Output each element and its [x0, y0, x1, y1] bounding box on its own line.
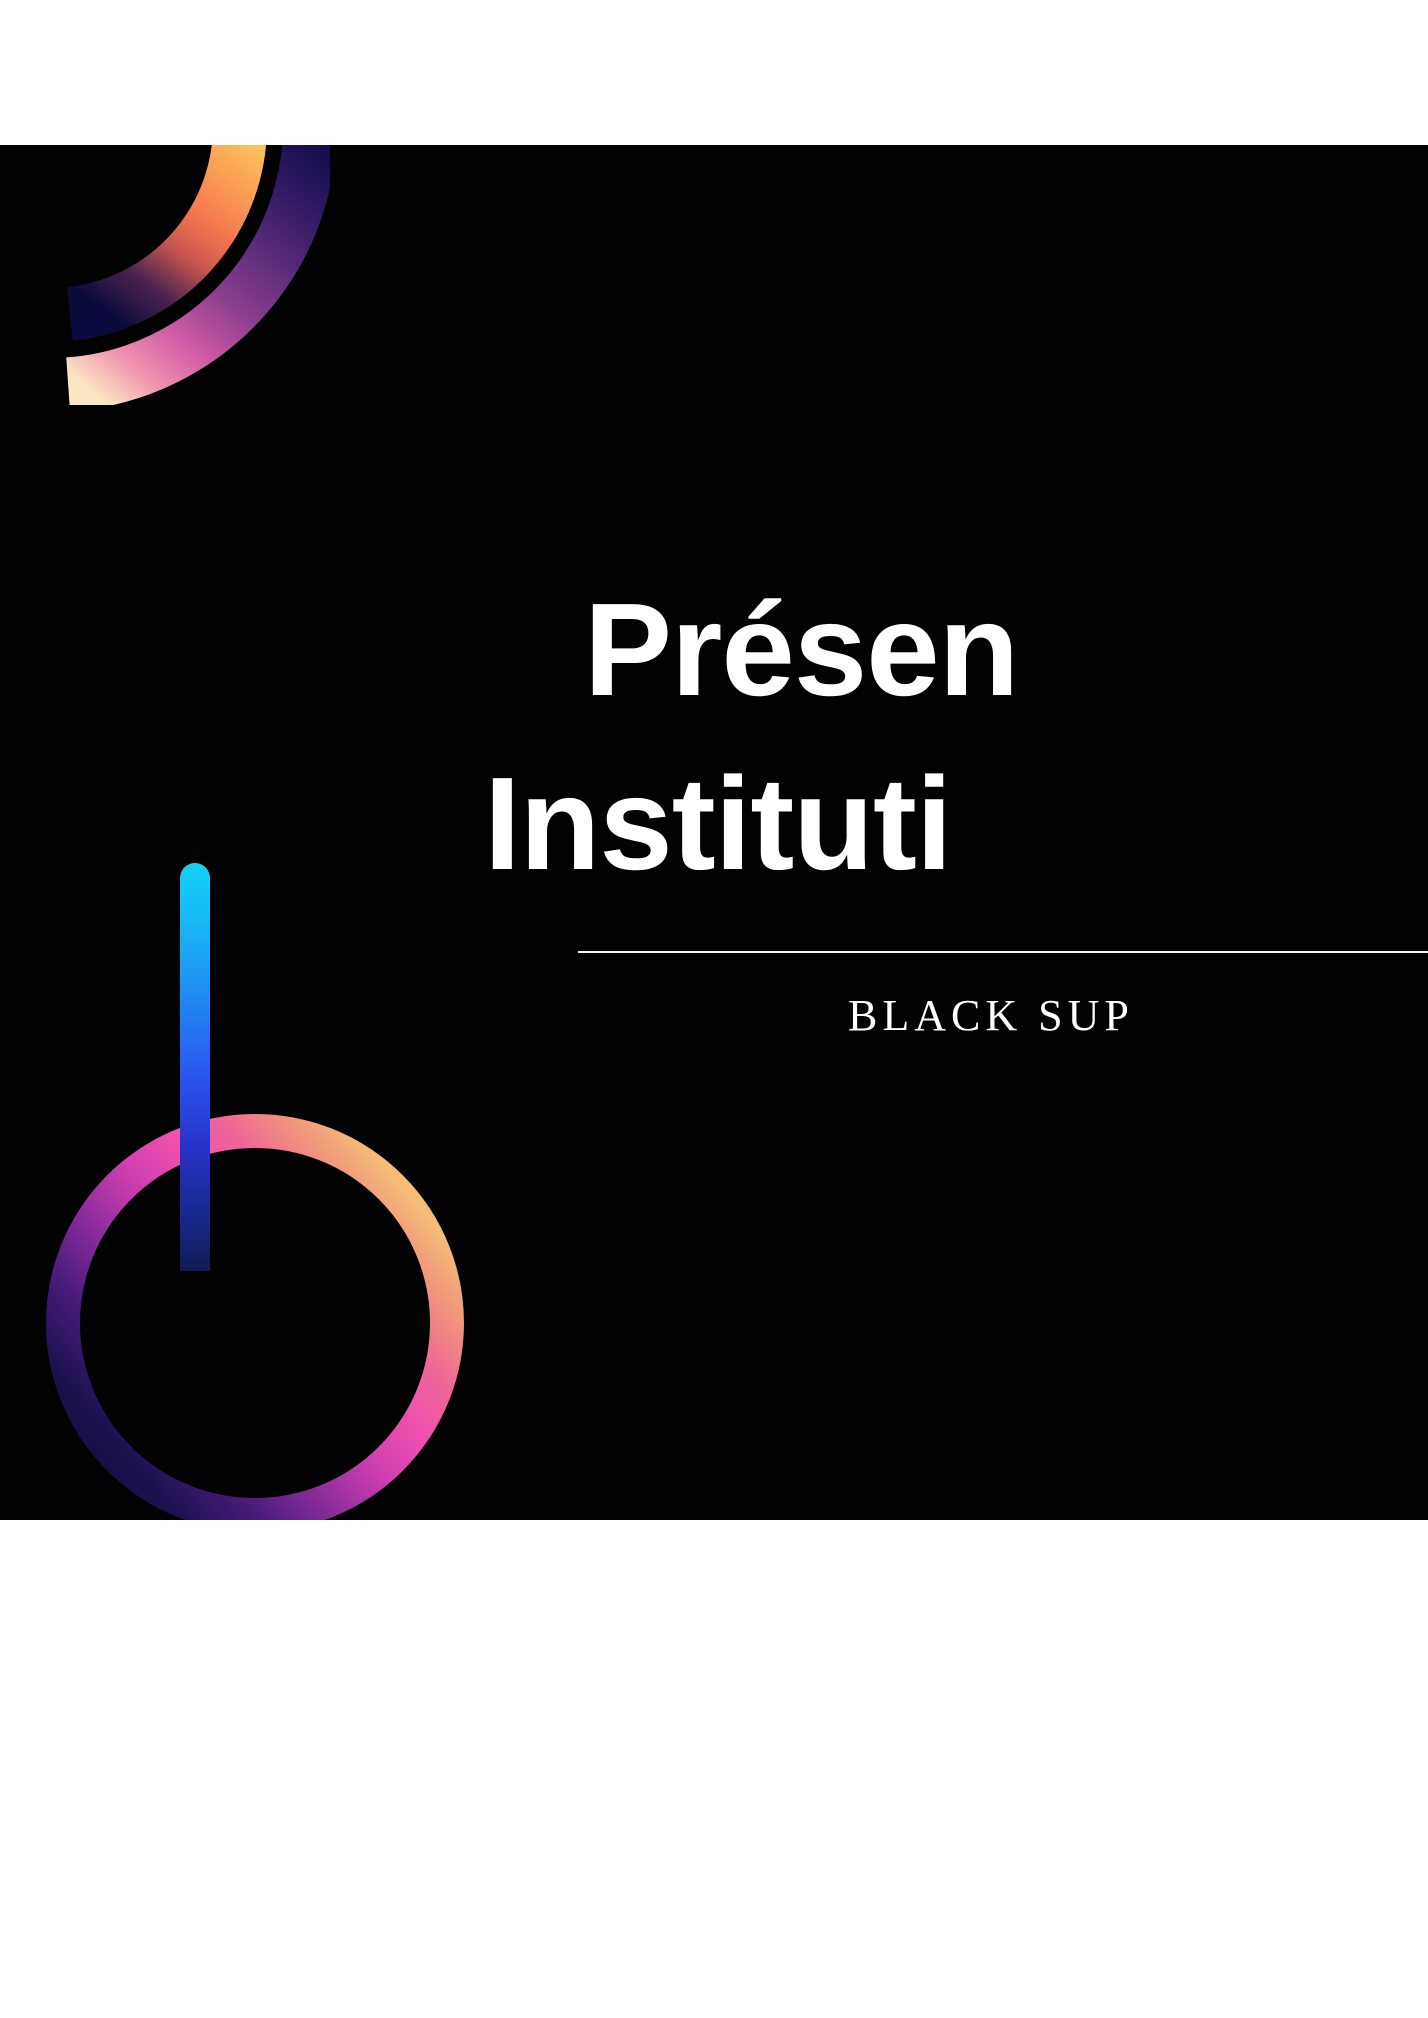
headline-line-1: Présen	[584, 563, 1428, 737]
gradient-ring-decoration	[20, 1065, 490, 1520]
slide-subtitle: BLACK SUP	[848, 990, 1134, 1041]
slide-canvas: Présen Instituti BLACK SUP	[0, 0, 1428, 2018]
headline-divider	[578, 951, 1428, 953]
vertical-accent-bar	[180, 863, 210, 1271]
slide-headline: Présen Instituti	[584, 563, 1428, 911]
presentation-slide: Présen Instituti BLACK SUP	[0, 145, 1428, 1520]
headline-line-2: Instituti	[484, 737, 1428, 911]
concentric-arcs-decoration	[0, 145, 330, 405]
